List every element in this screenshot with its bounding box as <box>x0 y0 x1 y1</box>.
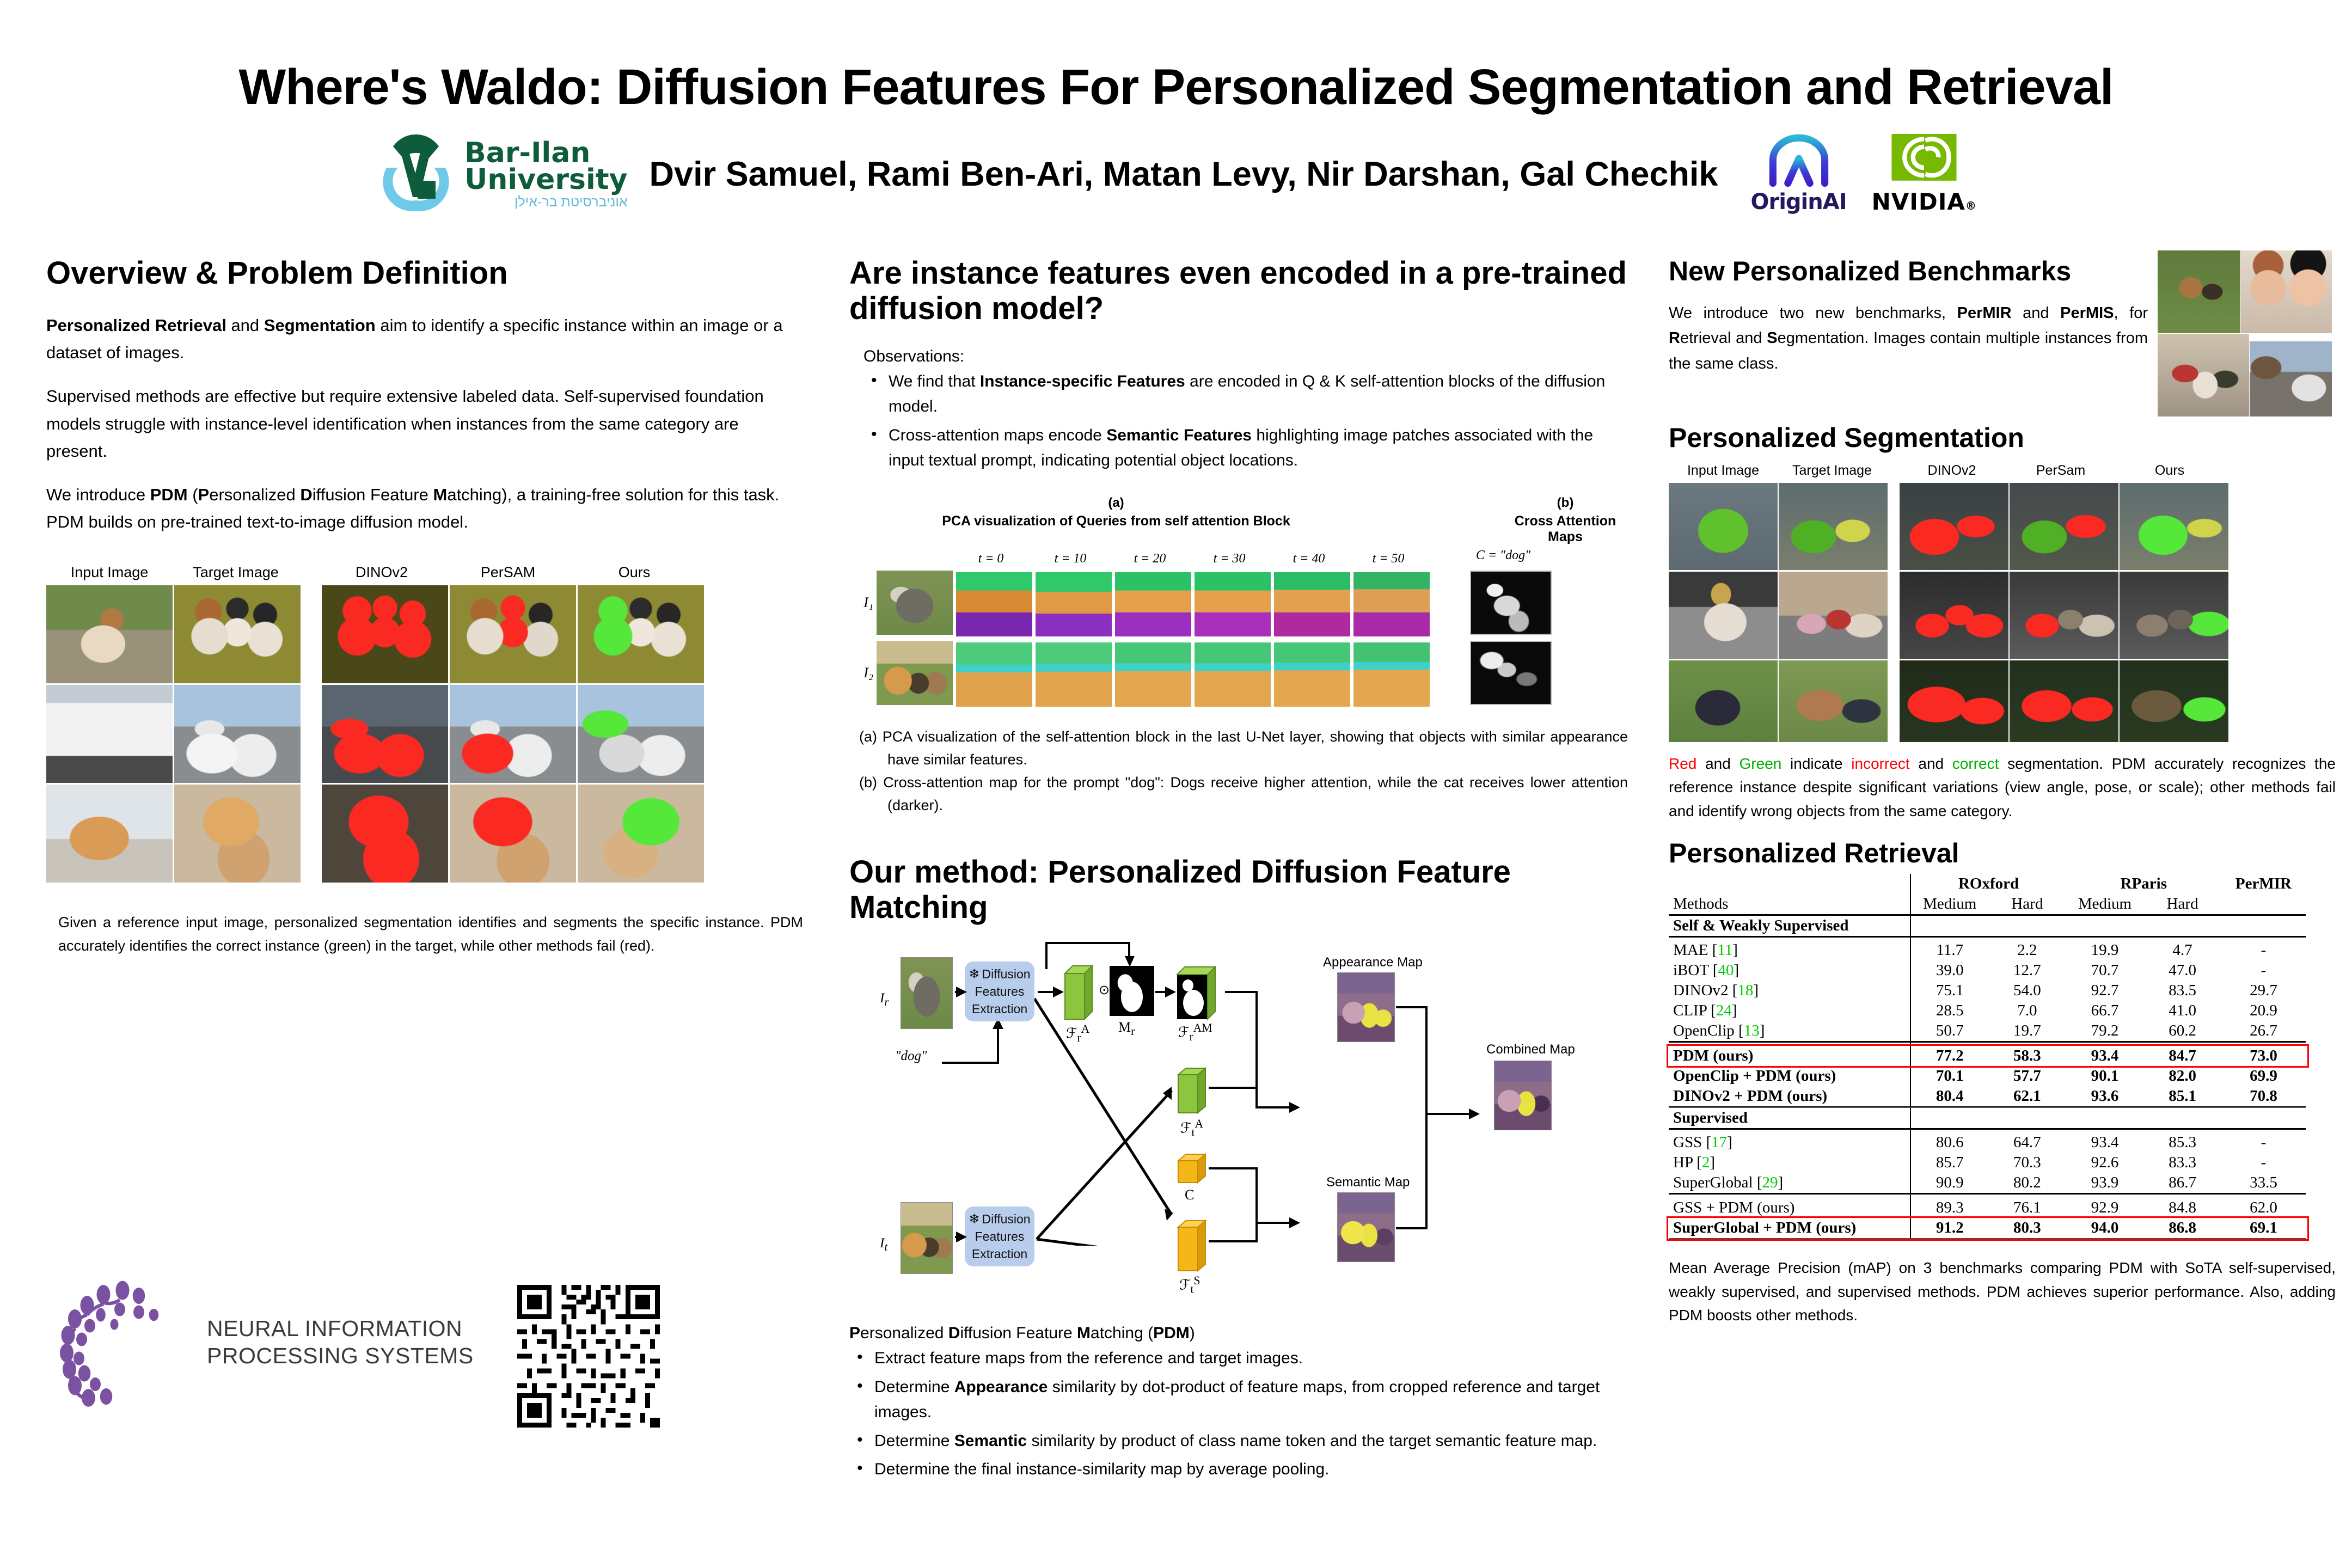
left-grid-rows <box>46 585 803 883</box>
rcell-target-horses <box>1779 483 1888 570</box>
arrowhead-tgt-icon <box>956 1232 967 1242</box>
cell-input-dog <box>46 585 173 683</box>
pca-map-t30-row2 <box>1195 642 1271 707</box>
cell-value: 92.6 <box>2066 1153 2144 1173</box>
seg-cap-red: Red <box>1669 755 1696 772</box>
appearance-map-image <box>1337 972 1395 1042</box>
feature-cube-fts <box>1176 1217 1208 1276</box>
author-list: Dvir Samuel, Rami Ben-Ari, Matan Levy, N… <box>650 155 1718 194</box>
rcell-ours-kids <box>2120 572 2228 659</box>
rcell-ours-horses <box>2120 483 2228 570</box>
bench-permir: PerMIR <box>1957 304 2012 322</box>
instance-features-heading: Are instance features even encoded in a … <box>849 256 1628 327</box>
cell-value: 66.7 <box>2066 1001 2144 1021</box>
table-row <box>46 685 704 783</box>
pca-caption-a: (a) PCA visualization of the self-attent… <box>859 725 1628 771</box>
row-method-name: DINOv2 [18] <box>1669 981 1910 1001</box>
originai-wordmark: OriginAI <box>1750 189 1846 215</box>
right-column: New Personalized Benchmarks We introduce… <box>1669 256 2336 1327</box>
row-method-name: GSS [17] <box>1669 1132 1910 1153</box>
timestep-labels: t = 0 t = 10 t = 20 t = 30 t = 40 t = 50 <box>953 552 1426 566</box>
diffusion-box-ref-line1: Diffusion <box>982 966 1031 983</box>
bar-ilan-hebrew: אוניברסיטת בר-אילן <box>464 196 627 209</box>
table-rule <box>1669 1193 2306 1198</box>
seg-cap-and2: and <box>1910 755 1952 772</box>
timestep-30: t = 30 <box>1191 552 1267 566</box>
cell-value: 93.6 <box>2066 1086 2144 1107</box>
row-method-name: SuperGlobal [29] <box>1669 1173 1910 1194</box>
nvidia-wordmark: NVIDIA® <box>1872 188 1977 215</box>
timestep-40: t = 40 <box>1271 552 1347 566</box>
seg-cap-green: Green <box>1739 755 1782 772</box>
bench-s: S <box>1767 329 1777 347</box>
pca-panel-a-header: (a) PCA visualization of Queries from se… <box>855 495 1377 545</box>
timestep-20: t = 20 <box>1112 552 1188 566</box>
arrow-to-appearance-map <box>1255 1106 1294 1108</box>
collage-tile-women <box>2241 250 2332 333</box>
neurips-wordmark: NEURAL INFORMATION PROCESSING SYSTEMS <box>207 1315 474 1369</box>
rail-fta-h <box>1209 1087 1258 1089</box>
table-row: Methods Medium Hard Medium Hard <box>1669 894 2306 915</box>
pdm-b3-bold: Semantic <box>954 1432 1027 1450</box>
th-group-roxford: ROxford <box>1910 874 2066 894</box>
left-column: Overview & Problem Definition Personaliz… <box>46 256 803 957</box>
neurips-logo: NEURAL INFORMATION PROCESSING SYSTEMS <box>60 1274 474 1410</box>
arrowhead-mask-icon <box>1125 956 1135 967</box>
rail-c-h <box>1209 1167 1258 1169</box>
cell-persam-cats <box>450 785 576 883</box>
pdm-b2-bold: Appearance <box>954 1378 1048 1396</box>
pca-map-t40-row2 <box>1274 642 1350 707</box>
cell-value: 83.3 <box>2143 1153 2221 1173</box>
nvidia-registered-icon: ® <box>1965 199 1977 212</box>
pdm-b4-pre: Determine the final instance-similarity … <box>874 1460 1329 1478</box>
pca-map-t0-row1 <box>956 572 1032 636</box>
pdm-bullet-list: Extract feature maps from the reference … <box>849 1346 1628 1483</box>
diagram-prompt-label: "dog" <box>895 1049 927 1064</box>
diffusion-box-tgt-line3: Extraction <box>972 1246 1027 1263</box>
neurips-line2: PROCESSING SYSTEMS <box>207 1342 474 1369</box>
table-row: Self & Weakly Supervised <box>1669 915 2306 937</box>
panel-a-title: PCA visualization of Queries from self a… <box>855 513 1377 529</box>
pca-figure-headers: (a) PCA visualization of Queries from se… <box>855 495 1628 545</box>
grid-label-ours: Ours <box>571 564 697 581</box>
diagram-ref-label: Ir <box>880 991 889 1009</box>
neurips-line1: NEURAL INFORMATION <box>207 1315 474 1342</box>
list-item: We find that Instance-specific Features … <box>863 369 1628 420</box>
row-method-name: DINOv2 + PDM (ours) <box>1669 1086 1910 1107</box>
table-row: iBOT [40]39.012.770.747.0- <box>1669 960 2306 981</box>
row-method-name: OpenClip + PDM (ours) <box>1669 1066 1910 1086</box>
pca-row-label-1: I₁ <box>855 595 873 611</box>
pdm-d: D <box>300 485 312 504</box>
table-row: I₁ <box>855 569 1628 636</box>
observations-block: Observations: We find that Instance-spec… <box>849 347 1628 474</box>
arrow-to-semantic-map <box>1255 1222 1294 1224</box>
observations-list: We find that Instance-specific Features … <box>863 369 1628 474</box>
pdm-b3-pre: Determine <box>874 1432 954 1450</box>
cell-value: 70.3 <box>1988 1153 2066 1173</box>
cell-input-van <box>46 685 173 783</box>
cell-value: 39.0 <box>1910 960 1988 981</box>
cell-ours-cats <box>578 785 704 883</box>
obs2-bold: Semantic Features <box>1106 426 1252 444</box>
label-fts: ℱtS <box>1179 1274 1200 1296</box>
cell-value: 82.0 <box>2143 1066 2221 1086</box>
pdm-t-iffusion: iffusion Feature <box>960 1324 1077 1342</box>
semantic-map-label: Semantic Map <box>1326 1175 1410 1190</box>
table-row: SuperGlobal [29]90.980.293.986.733.5 <box>1669 1173 2306 1194</box>
benchmarks-block: New Personalized Benchmarks We introduce… <box>1669 256 2336 414</box>
cell-value: 64.7 <box>1988 1132 2066 1153</box>
pca-map-t20-row2 <box>1115 642 1191 707</box>
seg-cap-and1: and <box>1696 755 1739 772</box>
cell-value: 19.7 <box>1988 1021 2066 1042</box>
bench-t2: and <box>2012 304 2061 322</box>
nvidia-eye-icon <box>1891 134 1957 188</box>
cell-value: 75.1 <box>1910 981 1988 1001</box>
cell-value: 85.1 <box>2143 1086 2221 1107</box>
pdm-t-m: M <box>1077 1324 1091 1342</box>
table-row: DINOv2 [18]75.154.092.783.529.7 <box>1669 981 2306 1001</box>
row-method-name: OpenClip [13] <box>1669 1021 1910 1042</box>
pca-map-t40-row1 <box>1274 572 1350 636</box>
diagram-tgt-label: It <box>880 1236 887 1254</box>
segmentation-heading: Personalized Segmentation <box>1669 422 2336 453</box>
rcell-input-horse <box>1669 483 1778 570</box>
rcell-persam-horses <box>2010 483 2118 570</box>
cell-value: 11.7 <box>1910 940 1988 960</box>
row-method-name: MAE [11] <box>1669 940 1910 960</box>
pca-timestep-row: t = 0 t = 10 t = 20 t = 30 t = 40 t = 50… <box>855 548 1628 566</box>
highlight-box <box>1667 1044 2309 1068</box>
pca-maps-row-1 <box>956 572 1430 636</box>
benchmark-sample-collage <box>2158 256 2332 414</box>
list-item: Determine Appearance similarity by dot-p… <box>849 1375 1628 1425</box>
cell-value: 28.5 <box>1910 1001 1988 1021</box>
cell-value: 93.9 <box>2066 1173 2144 1194</box>
cell-value: 26.7 <box>2221 1021 2306 1042</box>
arrowhead-semantic-icon <box>1289 1217 1300 1228</box>
cross-attention-map-2 <box>1470 641 1552 705</box>
cell-value: 92.7 <box>2066 981 2144 1001</box>
pdm-iffusion: iffusion Feature <box>313 485 433 504</box>
pdm-t-abbrev: PDM <box>1153 1324 1190 1342</box>
cell-value: - <box>2221 1153 2306 1173</box>
retrieval-heading: Personalized Retrieval <box>1669 838 2336 868</box>
table-row: ROxford RParis PerMIR <box>1669 874 2306 894</box>
grid-label-input-image: Input Image <box>46 564 173 581</box>
cell-ours-dogs <box>578 585 704 683</box>
cell-value: 69.9 <box>2221 1066 2306 1086</box>
table-row: OpenClip + PDM (ours)70.157.790.182.069.… <box>1669 1066 2306 1086</box>
cell-value: 70.1 <box>1910 1066 1988 1086</box>
rcell-target-dogs2 <box>1779 660 1888 742</box>
crossing-arrows-group <box>1034 995 1187 1246</box>
cell-value: 20.9 <box>2221 1001 2306 1021</box>
table-row: OpenClip [13]50.719.779.260.226.7 <box>1669 1021 2306 1042</box>
cell-dinov2-dogs <box>322 585 448 683</box>
feature-cube-c <box>1176 1152 1208 1187</box>
cell-value: 7.0 <box>1988 1001 2066 1021</box>
grid-label-target-image: Target Image <box>173 564 299 581</box>
arrowhead-appearance-icon <box>1289 1102 1300 1113</box>
left-grid-labels: Input Image Target Image DINOv2 PerSAM O… <box>46 564 803 581</box>
pca-source-image-1 <box>877 571 953 635</box>
cell-value: 92.9 <box>2066 1198 2144 1218</box>
poster-root: Where's Waldo: Diffusion Features For Pe… <box>0 0 2352 1568</box>
cell-value: 70.8 <box>2221 1086 2306 1107</box>
table-row <box>46 585 704 683</box>
row-method-name: CLIP [24] <box>1669 1001 1910 1021</box>
cell-value: - <box>2221 1132 2306 1153</box>
nvidia-word-text: NVIDIA <box>1872 188 1965 215</box>
cell-ours-cars <box>578 685 704 783</box>
seg-cap-correct: correct <box>1952 755 1999 772</box>
overview-heading: Overview & Problem Definition <box>46 256 803 291</box>
benchmarks-paragraph: We introduce two new benchmarks, PerMIR … <box>1669 301 2148 376</box>
cell-value: 90.1 <box>2066 1066 2144 1086</box>
list-item: Determine Semantic similarity by product… <box>849 1429 1628 1454</box>
pdm-p: P <box>198 485 210 504</box>
left-figure: Input Image Target Image DINOv2 PerSAM O… <box>46 564 803 883</box>
poster-title: Where's Waldo: Diffusion Features For Pe… <box>0 59 2352 116</box>
bar-ilan-line1: Bar-Ilan <box>464 140 627 167</box>
pdm-abbrev: PDM <box>150 485 188 504</box>
arrow-prompt-v <box>997 1028 999 1064</box>
bar-ilan-wordmark: Bar-Ilan University אוניברסיטת בר-אילן <box>464 140 627 209</box>
rail-fram-v <box>1255 991 1258 1090</box>
cell-value: 85.7 <box>1910 1153 1988 1173</box>
pdm-b3-post: similarity by product of class name toke… <box>1027 1432 1597 1450</box>
pca-map-t30-row1 <box>1195 572 1271 636</box>
panel-b-label: (b) <box>1503 495 1628 511</box>
bench-t1: We introduce two new benchmarks, <box>1669 304 1957 322</box>
collage-tile-kids <box>2158 334 2249 416</box>
header-row: Bar-Ilan University אוניברסיטת בר-אילן D… <box>0 125 2352 223</box>
cell-target-dogs <box>174 585 301 683</box>
rcell-persam-dogs2 <box>2010 660 2118 742</box>
results-table-head: ROxford RParis PerMIR Methods Medium Har… <box>1669 874 2306 915</box>
method-diagram: Ir "dog" ❄ Diffusion Features Extraction <box>849 946 1628 1322</box>
list-item: Determine the final instance-similarity … <box>849 1457 1628 1483</box>
cell-value: 86.7 <box>2143 1173 2221 1194</box>
arrow-mask-branch-h <box>1045 942 1130 944</box>
left-figure-caption: Given a reference input image, personali… <box>46 911 803 957</box>
diffusion-box-ref-line2: Features <box>975 983 1025 1001</box>
table-row <box>1669 572 2336 659</box>
overview-para-3: We introduce PDM (Personalized Diffusion… <box>46 481 803 536</box>
rcell-dinov2-horses <box>1900 483 2008 570</box>
cell-value: 85.3 <box>2143 1132 2221 1153</box>
th-permir-blank <box>2221 894 2306 915</box>
nvidia-logo: NVIDIA® <box>1872 134 1977 215</box>
cell-value: 62.1 <box>1988 1086 2066 1107</box>
right-figure: Input Image Target Image DINOv2 PerSam O… <box>1669 463 2336 742</box>
pca-figure: (a) PCA visualization of Queries from se… <box>849 495 1628 707</box>
neurips-mark-icon <box>60 1274 196 1410</box>
timestep-50: t = 50 <box>1350 552 1426 566</box>
left-grid-col-block <box>46 585 704 883</box>
cross-attn-prompt-label: C = "dog" <box>1462 548 1544 563</box>
row-method-name: GSS + PDM (ours) <box>1669 1198 1910 1218</box>
bar-ilan-mark-icon <box>375 133 457 215</box>
snowflake-icon: ❄ <box>969 1210 979 1228</box>
bench-permis: PerMIS <box>2060 304 2114 322</box>
rail-merge-appearance <box>1255 1087 1258 1108</box>
pca-row-label-2: I₂ <box>855 665 873 681</box>
rcell-target-kids <box>1779 572 1888 659</box>
semantic-map-image <box>1337 1192 1395 1262</box>
cell-target-cars <box>174 685 301 783</box>
pdm-m: M <box>433 485 448 504</box>
cell-value: 70.7 <box>2066 960 2144 981</box>
diffusion-features-extraction-ref: ❄ Diffusion Features Extraction <box>965 961 1034 1021</box>
pdm-t-ersonalized: ersonalized <box>860 1324 948 1342</box>
pdm-ersonalized: ersonalized <box>209 485 300 504</box>
th-rox-hard: Hard <box>1988 894 2066 915</box>
cell-value: 79.2 <box>2066 1021 2144 1042</box>
cell-persam-dogs <box>450 585 576 683</box>
label-c: C <box>1185 1187 1194 1203</box>
overview-bold-retrieval: Personalized Retrieval <box>46 316 226 335</box>
table-row: CLIP [24]28.57.066.741.020.9 <box>1669 1001 2306 1021</box>
cell-value: 80.6 <box>1910 1132 1988 1153</box>
obs1-pre: We find that <box>889 372 980 390</box>
table-row: GSS + PDM (ours)89.376.192.984.862.0 <box>1669 1198 2306 1218</box>
table-row <box>1669 483 2336 570</box>
cell-value: 83.5 <box>2143 981 2221 1001</box>
cell-value: 93.4 <box>2066 1132 2144 1153</box>
rcell-input-girl <box>1669 572 1778 659</box>
cell-input-cat <box>46 785 173 883</box>
pca-map-t10-row2 <box>1036 642 1112 707</box>
table-row: DINOv2 + PDM (ours)80.462.193.685.170.8 <box>1669 1086 2306 1107</box>
cell-value: 89.3 <box>1910 1198 1988 1218</box>
right-grid-labels: Input Image Target Image DINOv2 PerSam O… <box>1669 463 2336 479</box>
diagram-reference-image <box>901 957 953 1029</box>
observations-label: Observations: <box>863 347 1628 366</box>
results-table-wrapper: ROxford RParis PerMIR Methods Medium Har… <box>1669 874 2336 1242</box>
rgrid-label-ours: Ours <box>2115 463 2224 479</box>
cell-value: 19.9 <box>2066 940 2144 960</box>
rgrid-label-dinov2: DINOv2 <box>1897 463 2006 479</box>
list-item: Extract feature maps from the reference … <box>849 1346 1628 1371</box>
diffusion-box-tgt-line1: Diffusion <box>982 1211 1031 1228</box>
cell-value: 54.0 <box>1988 981 2066 1001</box>
collage-tile-dogs <box>2158 250 2240 333</box>
pca-map-t10-row1 <box>1036 572 1112 636</box>
pdm-b2-pre: Determine <box>874 1378 954 1396</box>
bar-ilan-logo: Bar-Ilan University אוניברסיטת בר-אילן <box>375 133 627 215</box>
cell-value: 4.7 <box>2143 940 2221 960</box>
diagram-target-image <box>901 1202 953 1274</box>
pca-maps-row-2 <box>956 642 1430 707</box>
benchmarks-heading: New Personalized Benchmarks <box>1669 256 2148 286</box>
timestep-10: t = 10 <box>1032 552 1108 566</box>
pca-caption-b: (b) Cross-attention map for the prompt "… <box>859 771 1628 817</box>
cell-value: 2.2 <box>1988 940 2066 960</box>
table-row: GSS [17]80.664.793.485.3- <box>1669 1132 2306 1153</box>
row-method-name: iBOT [40] <box>1669 960 1910 981</box>
rgrid-label-target: Target Image <box>1778 463 1886 479</box>
rail-c-v <box>1255 1167 1258 1241</box>
overview-and: and <box>226 316 264 335</box>
th-rpar-medium: Medium <box>2066 894 2144 915</box>
combined-map-label: Combined Map <box>1486 1042 1575 1057</box>
pdm-t-atching: atching ( <box>1091 1324 1153 1342</box>
cross-attention-map-1 <box>1470 571 1552 635</box>
arrowhead-combined-icon <box>1469 1108 1480 1119</box>
highlight-box <box>1667 1216 2309 1241</box>
pdm-t-p: P <box>849 1324 860 1342</box>
cell-target-cat-dog <box>174 785 301 883</box>
list-item: Cross-attention maps encode Semantic Fea… <box>863 423 1628 474</box>
table-row: MAE [11]11.72.219.94.7- <box>1669 940 2306 960</box>
arrow-to-combined-map <box>1425 1113 1473 1115</box>
originai-logo: OriginAI <box>1750 134 1846 215</box>
qr-code[interactable] <box>517 1285 660 1428</box>
cell-value: - <box>2221 960 2306 981</box>
bar-ilan-line2: University <box>464 167 627 193</box>
panel-b-title: Cross Attention Maps <box>1503 513 1628 545</box>
segmentation-caption: Red and Green indicate incorrect and cor… <box>1669 752 2336 823</box>
overview-bold-segmentation: Segmentation <box>264 316 376 335</box>
rcell-ours-dogs2 <box>2120 660 2228 742</box>
middle-column: Are instance features even encoded in a … <box>849 256 1628 1486</box>
pca-captions: (a) PCA visualization of the self-attent… <box>849 725 1628 817</box>
pdm-b1-pre: Extract feature maps from the reference … <box>874 1349 1303 1367</box>
arrowhead-ref-icon <box>956 987 967 997</box>
timestep-0: t = 0 <box>953 552 1029 566</box>
th-group-rparis: RParis <box>2066 874 2221 894</box>
arrow-mask-branch-v1 <box>1045 942 1048 969</box>
pca-source-image-2 <box>877 641 953 705</box>
method-heading: Our method: Personalized Diffusion Featu… <box>849 855 1628 926</box>
pca-map-t50-row1 <box>1353 572 1430 636</box>
cell-value: 12.7 <box>1988 960 2066 981</box>
cell-value: 29.7 <box>2221 981 2306 1001</box>
cell-value: 47.0 <box>2143 960 2221 981</box>
cell-value: 60.2 <box>2143 1021 2221 1042</box>
appearance-map-label: Appearance Map <box>1323 955 1423 970</box>
feature-cube-fta <box>1176 1065 1208 1118</box>
pdm-paren: ( <box>188 485 198 504</box>
rgrid-label-input: Input Image <box>1669 463 1778 479</box>
rcell-dinov2-dogs2 <box>1900 660 2008 742</box>
cell-value: 41.0 <box>2143 1001 2221 1021</box>
bench-r: R <box>1669 329 1680 347</box>
originai-mark-icon <box>1766 134 1832 188</box>
bench-t3: , for <box>2114 304 2148 322</box>
table-row: HP [2]85.770.392.683.3- <box>1669 1153 2306 1173</box>
rail-semantic-out <box>1396 1227 1428 1229</box>
pca-map-t0-row2 <box>956 642 1032 707</box>
pdm-summary-title: Personalized Diffusion Feature Matching … <box>849 1324 1628 1343</box>
th-methods-spacer <box>1669 874 1910 894</box>
seg-cap-mid: indicate <box>1781 755 1851 772</box>
diffusion-features-extraction-tgt: ❄ Diffusion Features Extraction <box>965 1206 1034 1266</box>
pdm-t-close: ) <box>1190 1324 1195 1342</box>
table-row <box>1669 660 2336 742</box>
table-row: I₂ <box>855 639 1628 707</box>
cell-dinov2-cars <box>322 685 448 783</box>
cell-value: 90.9 <box>1910 1173 1988 1194</box>
pca-panel-b-header: (b) Cross Attention Maps <box>1503 495 1628 545</box>
bench-t4: etrieval and <box>1680 329 1767 347</box>
cell-persam-cars <box>450 685 576 783</box>
diffusion-box-ref-line3: Extraction <box>972 1001 1027 1018</box>
